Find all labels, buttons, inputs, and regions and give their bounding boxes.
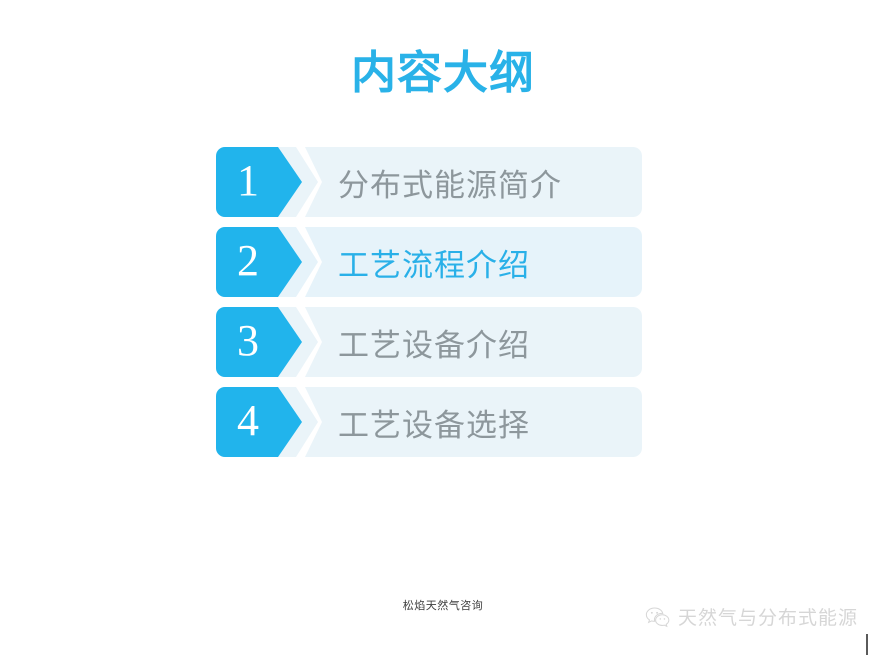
- slide-canvas: 内容大纲 1 分布式能源简介 2 工艺流程介绍 3 工艺设备介绍 4 工艺设备选…: [0, 0, 886, 660]
- agenda-label-3: 工艺设备介绍: [338, 307, 530, 377]
- agenda-label-2: 工艺流程介绍: [338, 227, 530, 297]
- agenda-number-4: 4: [216, 387, 280, 457]
- agenda-label-1: 分布式能源简介: [338, 147, 562, 217]
- agenda-number-1: 1: [216, 147, 280, 217]
- agenda-item-1[interactable]: 1 分布式能源简介: [216, 147, 642, 217]
- agenda-number-2: 2: [216, 227, 280, 297]
- edge-tick-mark: [866, 634, 868, 655]
- agenda-item-2[interactable]: 2 工艺流程介绍: [216, 227, 642, 297]
- agenda-label-4: 工艺设备选择: [338, 387, 530, 457]
- agenda-list: 1 分布式能源简介 2 工艺流程介绍 3 工艺设备介绍 4 工艺设备选择: [216, 147, 642, 457]
- watermark: 天然气与分布式能源: [645, 603, 858, 630]
- agenda-item-3[interactable]: 3 工艺设备介绍: [216, 307, 642, 377]
- agenda-number-3: 3: [216, 307, 280, 377]
- agenda-item-4[interactable]: 4 工艺设备选择: [216, 387, 642, 457]
- watermark-text: 天然气与分布式能源: [678, 603, 858, 630]
- page-title: 内容大纲: [0, 48, 886, 98]
- wechat-icon: [645, 606, 671, 628]
